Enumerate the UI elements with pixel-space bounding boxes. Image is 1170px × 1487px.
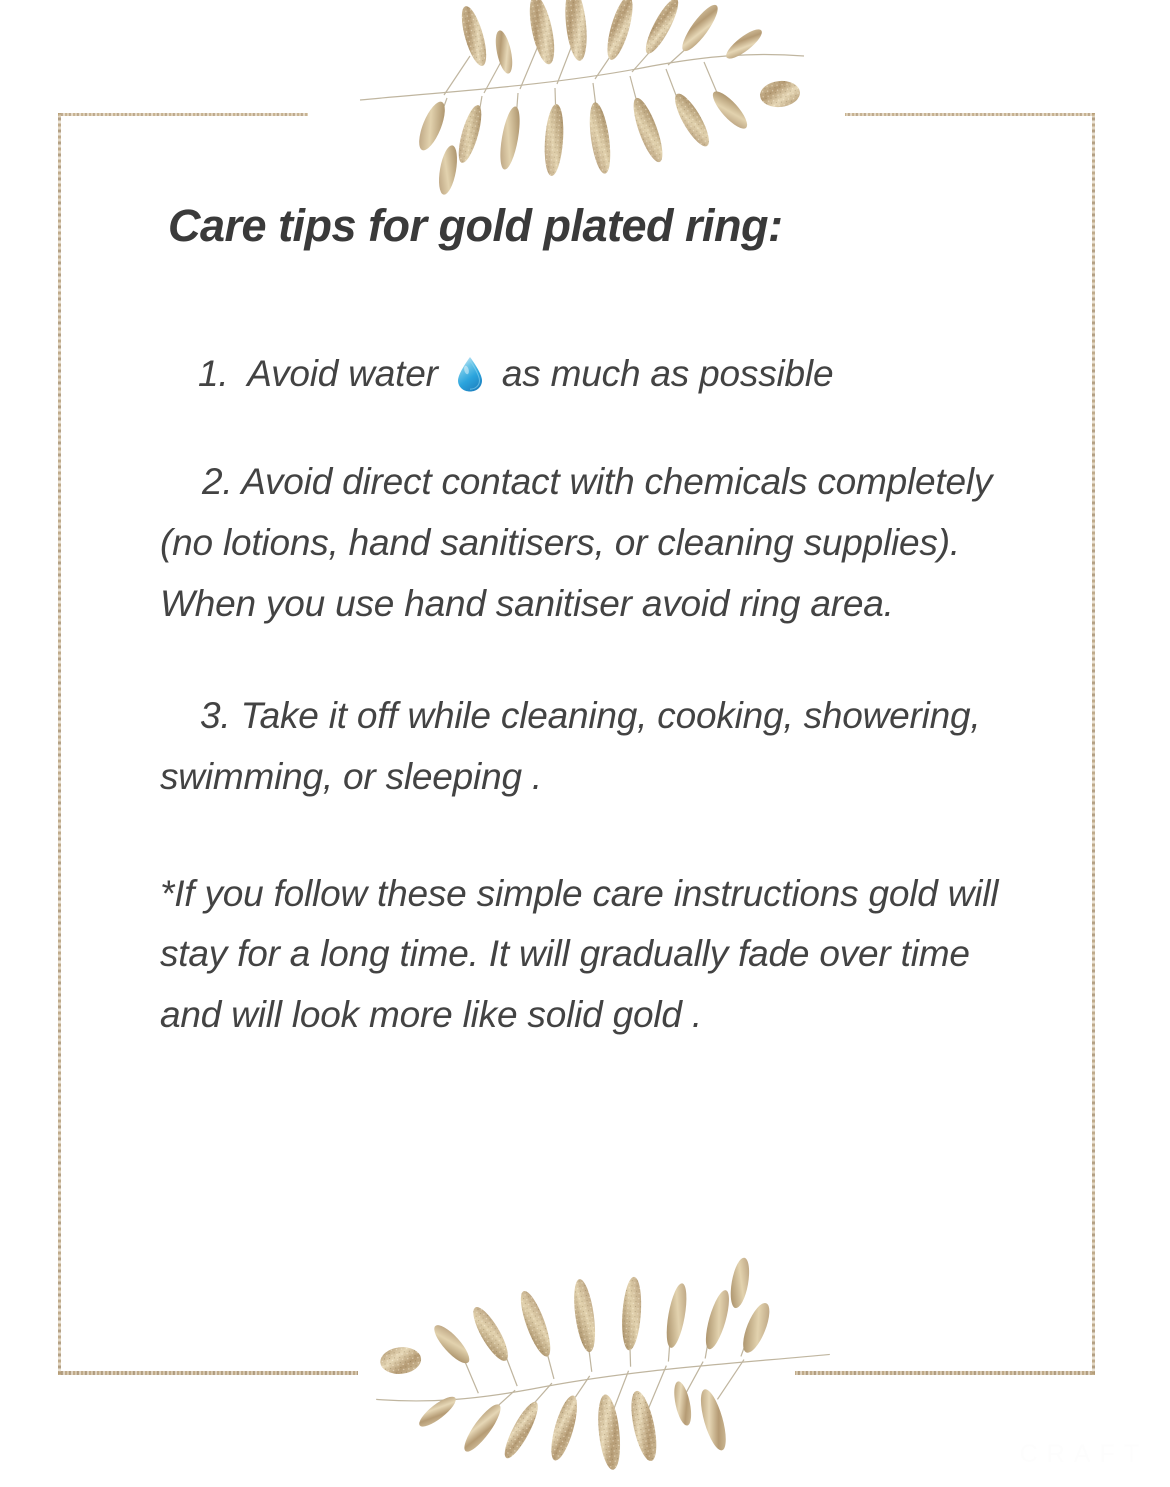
tip-item-1: 1. Avoid water as much as possible [160, 344, 1040, 405]
tip-1-text-before: Avoid water [247, 353, 437, 394]
frame-top-right-segment [845, 113, 1095, 116]
frame-right-segment [1092, 113, 1095, 1375]
care-tips-content: Care tips for gold plated ring: 1. Avoid… [160, 200, 1040, 1046]
tip-item-2: 2. Avoid direct contact with chemicals c… [160, 452, 1040, 634]
care-tips-card: Care tips for gold plated ring: 1. Avoid… [0, 0, 1170, 1487]
frame-left-segment [58, 113, 61, 1375]
frame-top-left-segment [58, 113, 308, 116]
tip-2-number: 2. [202, 461, 232, 502]
frame-bottom-left-segment [58, 1371, 358, 1375]
care-note: *If you follow these simple care instruc… [160, 864, 1040, 1046]
gold-glitter-fern-icon [368, 1238, 838, 1478]
tip-3-number: 3. [200, 695, 230, 736]
gold-glitter-fern-icon [352, 0, 812, 199]
tip-1-text-after: as much as possible [502, 353, 833, 394]
frame-bottom-right-segment [795, 1371, 1095, 1375]
tip-2-text: Avoid direct contact with chemicals comp… [160, 461, 992, 623]
tip-item-3: 3. Take it off while cleaning, cooking, … [160, 686, 1040, 807]
page-title: Care tips for gold plated ring: [168, 200, 1040, 252]
water-droplet-icon [457, 356, 483, 392]
watermark: CRAFT [1020, 1440, 1148, 1469]
tip-1-number: 1. [198, 353, 228, 394]
tip-3-text: Take it off while cleaning, cooking, sho… [160, 695, 981, 797]
